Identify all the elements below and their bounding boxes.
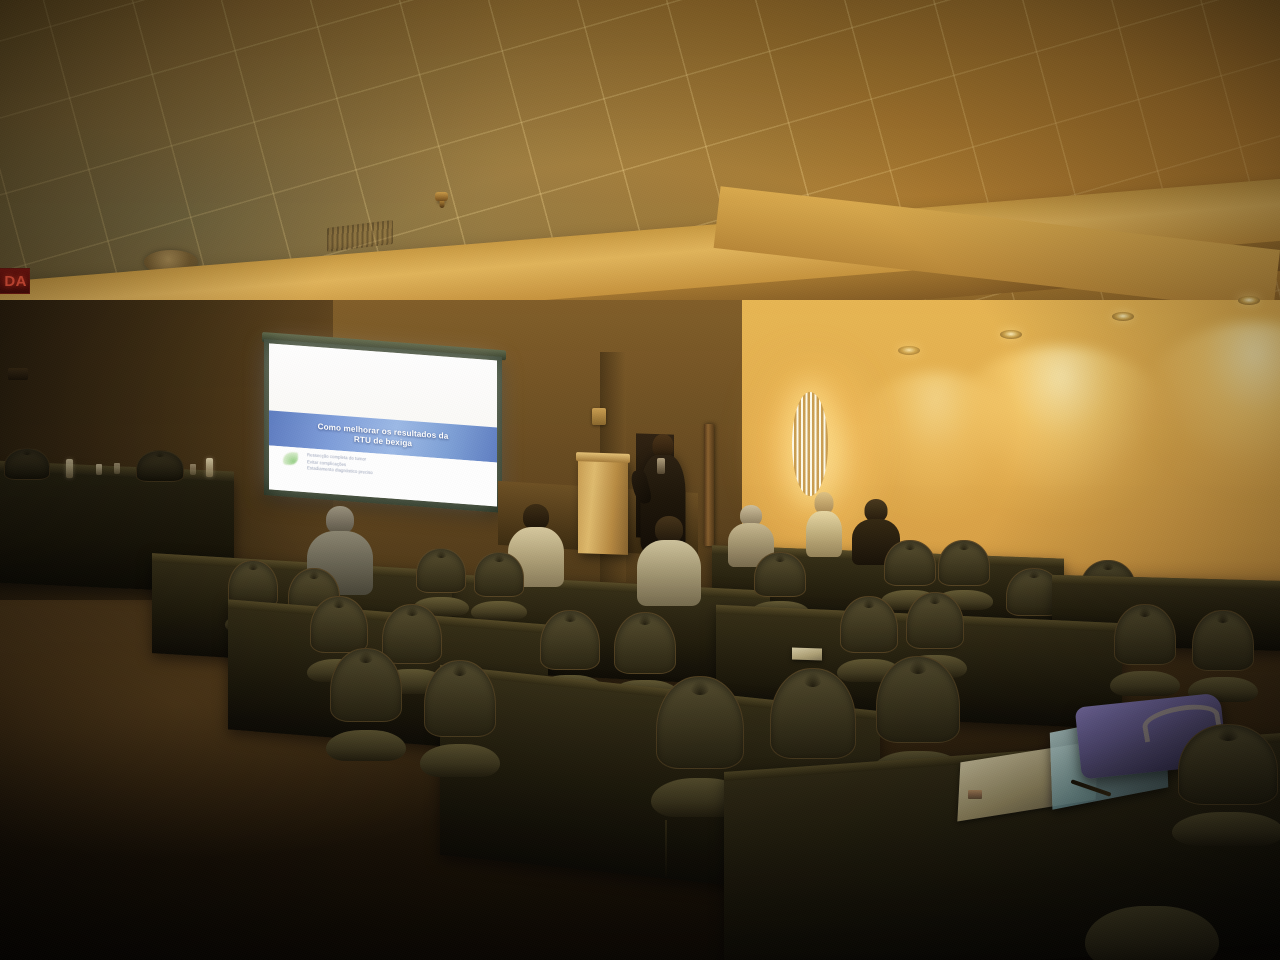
name-card [792,647,822,660]
chair-back [1192,610,1254,671]
conference-room-photo: DA Como melhorar os resultados da RTU de… [0,0,1280,960]
chair [136,450,184,502]
chair-back [416,548,466,593]
wooden-post [704,424,714,546]
attendee-blonde-woman [806,492,842,554]
chair-back [424,660,496,737]
presentation-slide: Como melhorar os resultados da RTU de be… [269,343,497,506]
chair-seat [1172,812,1280,846]
chair-back [474,552,524,597]
recessed-downlight-icon [1238,296,1260,305]
water-bottle-icon [206,458,213,477]
chair-back [876,656,960,743]
chair-back [330,648,402,722]
attendee-light-shirt [642,516,696,600]
wall-outlet-icon [592,408,606,425]
leaf-logo-icon [283,452,298,466]
chair-back [938,540,990,586]
head [655,516,683,543]
chair [1114,604,1176,702]
body [637,540,701,606]
recessed-downlight-icon [1112,312,1134,321]
chair [1178,724,1278,854]
chair-back [840,596,898,653]
body [806,511,842,557]
water-bottle-icon [66,459,73,478]
chair-back [754,552,806,597]
chair-back [310,596,368,653]
chair-back [656,676,744,769]
exit-sign: DA [0,268,30,294]
exit-sign-label: DA [4,273,29,290]
wall-sconce-icon [792,392,828,496]
wooden-lectern [578,457,628,555]
chair-seat [420,744,501,776]
chair-back [136,450,184,482]
recessed-downlight-icon [1000,330,1022,339]
wall-plate-icon [8,368,28,380]
chair-back [614,612,676,674]
lectern-top [576,452,630,463]
water-glass-icon [114,463,120,474]
presenter-shirt [657,458,665,474]
chair-seat [1085,906,1219,960]
chair [424,660,496,784]
name-card [968,790,982,799]
chair-seat [326,730,407,761]
chair-seat [471,601,527,620]
chair [474,552,524,624]
fire-sprinkler-icon [435,192,448,201]
chair-back [770,668,856,759]
chair-back [540,610,600,670]
chair-back [1114,604,1176,665]
chair [330,648,402,768]
chair [1092,836,1212,960]
chair-seat [1110,671,1179,696]
water-glass-icon [190,464,196,475]
water-glass-icon [96,464,102,475]
chair-back [4,448,50,480]
chair [1192,610,1254,708]
chair-leg [665,820,668,877]
chair-back [906,592,964,649]
projection-screen: Como melhorar os resultados da RTU de be… [264,339,502,513]
head [326,506,354,534]
recessed-downlight-icon [898,346,920,355]
chair [4,448,50,500]
chair-back [1178,724,1278,805]
chair-back [884,540,936,586]
slide-title: Como melhorar os resultados da RTU de be… [312,421,455,452]
